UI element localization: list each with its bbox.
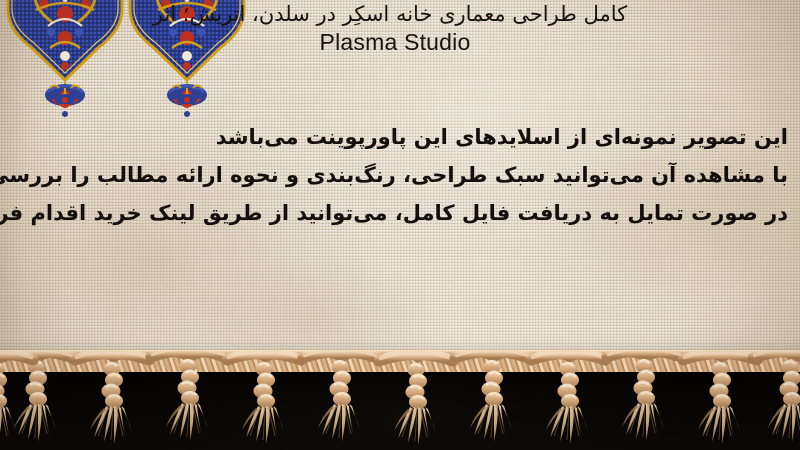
slide-preview: کامل طراحی معماری خانه اسکِر در سلدن، ات… bbox=[0, 0, 800, 450]
knotted-carpet-fringe bbox=[0, 350, 800, 450]
pendant-tip-ornament bbox=[177, 88, 197, 117]
pendant-tip-ornaments bbox=[0, 88, 250, 128]
pendant-tip-ornament bbox=[55, 88, 75, 117]
